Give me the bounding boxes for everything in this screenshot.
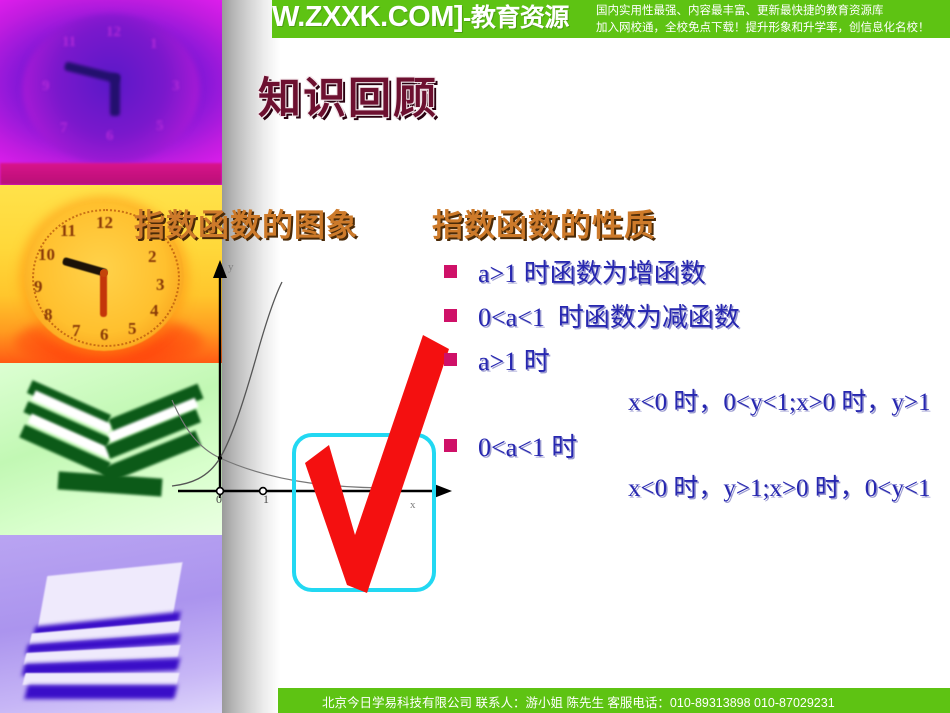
page-title: 知识回顾 xyxy=(258,64,438,126)
sidebar-photo-books-purple xyxy=(0,535,222,713)
curve-increasing xyxy=(172,282,282,486)
clock-numeral: 2 xyxy=(148,247,157,267)
bullet-square-icon xyxy=(444,353,457,366)
book-sheet xyxy=(23,673,180,685)
list-item-detail: x<0 时，0<y<1;x>0 时，y>1 xyxy=(478,382,950,424)
clock-numeral: 7 xyxy=(72,321,81,341)
clock-numeral: 5 xyxy=(128,319,137,339)
clock-numeral: 10 xyxy=(38,245,55,265)
clock-numeral: 11 xyxy=(60,221,76,241)
checkmark-icon xyxy=(283,335,453,625)
book-spine xyxy=(57,471,162,496)
tick-label-origin: 0 xyxy=(216,492,222,507)
slide-canvas: 12 3 6 9 11 1 5 7 12 11 10 9 xyxy=(0,0,950,713)
clock-numeral: 12 xyxy=(96,213,113,233)
clock-numeral: 8 xyxy=(44,305,53,325)
clock-numeral: 3 xyxy=(172,78,180,95)
bullet-square-icon xyxy=(444,309,457,322)
heading-properties: 指数函数的性质 xyxy=(432,200,656,245)
y-axis-label: y xyxy=(228,261,234,273)
intersection-point xyxy=(218,456,222,460)
banner-logo: W.ZXXK.COM]-教育资源 xyxy=(272,0,569,34)
tick-label-one: 1 xyxy=(263,492,269,507)
list-item-label: a>1 时函数为增函数 xyxy=(478,254,950,294)
bullet-square-icon xyxy=(444,439,457,452)
red-checkmark xyxy=(283,335,453,625)
clock-numeral: 4 xyxy=(150,301,159,321)
banner-logo-latin: W.ZXXK.COM] xyxy=(272,1,463,33)
clock-center-pin xyxy=(100,269,108,277)
list-item-label: a>1 时 xyxy=(478,342,950,382)
site-footer: 北京今日学易科技有限公司 联系人：游小姐 陈先生 客服电话：010-893138… xyxy=(278,688,950,713)
clock-numeral: 9 xyxy=(42,78,50,95)
bullet-square-icon xyxy=(444,265,457,278)
heading-graph: 指数函数的图象 xyxy=(134,200,358,245)
clock-numeral: 3 xyxy=(156,275,165,295)
clock-magenta-image: 12 3 6 9 11 1 5 7 xyxy=(0,0,222,185)
list-item-detail: x<0 时，y>1;x>0 时，0<y<1 xyxy=(478,468,950,510)
list-item: a>1 时 x<0 时，0<y<1;x>0 时，y>1 xyxy=(444,342,950,424)
list-item: 0<a<1 时函数为减函数 xyxy=(444,298,950,338)
y-axis-arrow xyxy=(213,260,227,278)
list-item-label: 0<a<1 时 xyxy=(478,428,950,468)
clock-numeral: 11 xyxy=(62,34,76,51)
banner-logo-cn: -教育资源 xyxy=(463,4,569,32)
clock-hand-minute xyxy=(100,271,107,317)
banner-tagline-1: 国内实用性最强、内容最丰富、更新最快捷的教育资源库 xyxy=(596,3,948,20)
clock-numeral: 1 xyxy=(150,36,158,53)
clock-base xyxy=(0,163,222,185)
clock-hand-minute xyxy=(110,74,120,116)
list-item: a>1 时函数为增函数 xyxy=(444,254,950,294)
properties-list: a>1 时函数为增函数 0<a<1 时函数为减函数 a>1 时 x<0 时，0<… xyxy=(444,254,950,514)
footer-text: 北京今日学易科技有限公司 联系人：游小姐 陈先生 客服电话：010-893138… xyxy=(322,692,835,711)
clock-numeral: 12 xyxy=(106,24,121,41)
books-purple-image xyxy=(0,535,222,713)
sidebar-photo-clock-magenta: 12 3 6 9 11 1 5 7 xyxy=(0,0,222,185)
book-edge-shadow xyxy=(24,685,177,699)
clock-numeral: 9 xyxy=(34,277,43,297)
list-item-label: 0<a<1 时函数为减函数 xyxy=(478,298,950,338)
banner-taglines: 国内实用性最强、内容最丰富、更新最快捷的教育资源库 加入网校通，全校免点下载！提… xyxy=(596,3,948,37)
clock-numeral: 7 xyxy=(60,120,68,137)
list-item: 0<a<1 时 x<0 时，y>1;x>0 时，0<y<1 xyxy=(444,428,950,510)
checkmark-shape xyxy=(305,335,449,593)
clock-numeral: 6 xyxy=(106,128,114,145)
clock-numeral: 6 xyxy=(100,325,109,345)
banner-tagline-2: 加入网校通，全校免点下载！提升形象和升学率，创信息化名校！ xyxy=(596,20,948,37)
site-banner: W.ZXXK.COM]-教育资源 国内实用性最强、内容最丰富、更新最快捷的教育资… xyxy=(272,0,950,38)
clock-numeral: 5 xyxy=(156,118,164,135)
